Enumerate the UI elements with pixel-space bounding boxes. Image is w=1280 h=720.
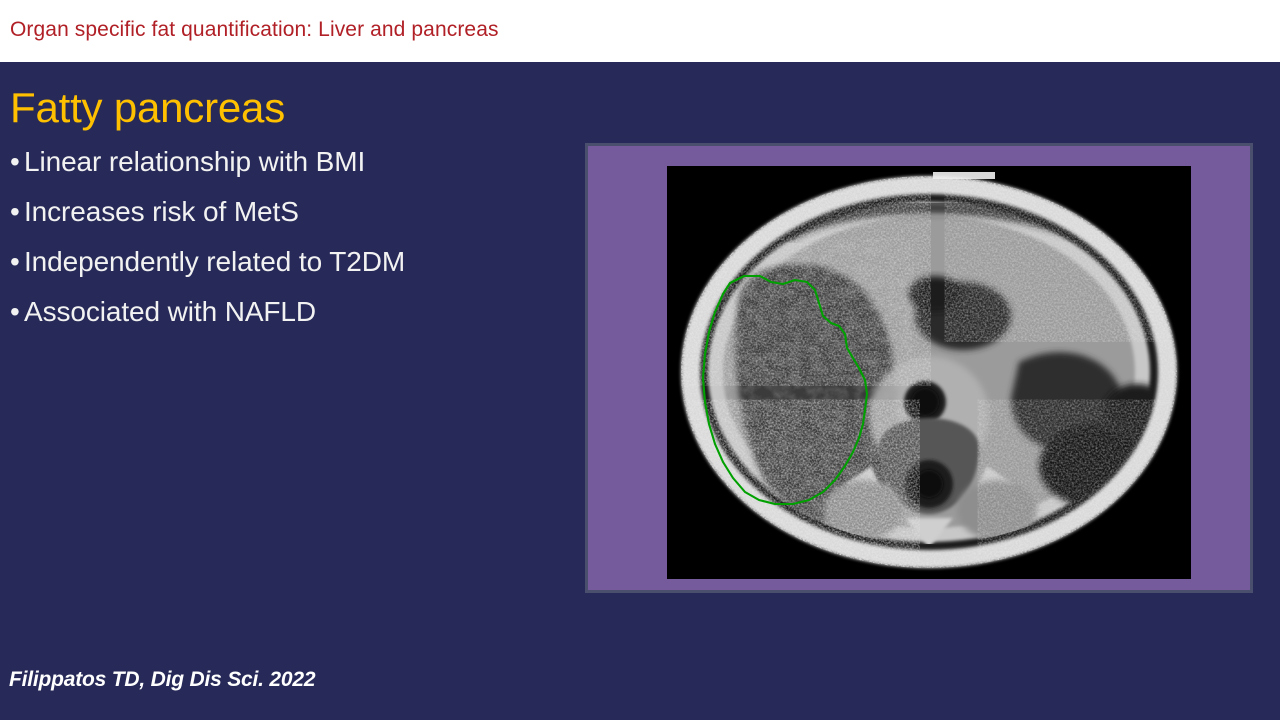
list-item: • Independently related to T2DM: [10, 246, 550, 278]
figure-frame: [585, 143, 1253, 593]
bullet-list: • Linear relationship with BMI • Increas…: [10, 146, 550, 346]
list-item: • Associated with NAFLD: [10, 296, 550, 328]
list-item-label: Linear relationship with BMI: [24, 146, 365, 178]
bullet-dot-icon: •: [10, 246, 24, 278]
ct-scan-image: [667, 166, 1191, 579]
scanner-marker: [933, 172, 995, 179]
bullet-dot-icon: •: [10, 146, 24, 178]
ct-scan-graphic: [667, 166, 1191, 579]
citation-text: Filippatos TD, Dig Dis Sci. 2022: [9, 667, 315, 693]
slide-header-band: Organ specific fat quantification: Liver…: [0, 0, 1280, 62]
list-item: • Increases risk of MetS: [10, 196, 550, 228]
bullet-dot-icon: •: [10, 196, 24, 228]
gas-pocket: [909, 276, 961, 312]
bullet-dot-icon: •: [10, 296, 24, 328]
presentation-slide: Organ specific fat quantification: Liver…: [0, 0, 1280, 720]
section-header-title: Organ specific fat quantification: Liver…: [10, 17, 499, 43]
page-title: Fatty pancreas: [10, 82, 285, 134]
list-item-label: Independently related to T2DM: [24, 246, 405, 278]
list-item-label: Increases risk of MetS: [24, 196, 299, 228]
list-item-label: Associated with NAFLD: [24, 296, 316, 328]
list-item: • Linear relationship with BMI: [10, 146, 550, 178]
